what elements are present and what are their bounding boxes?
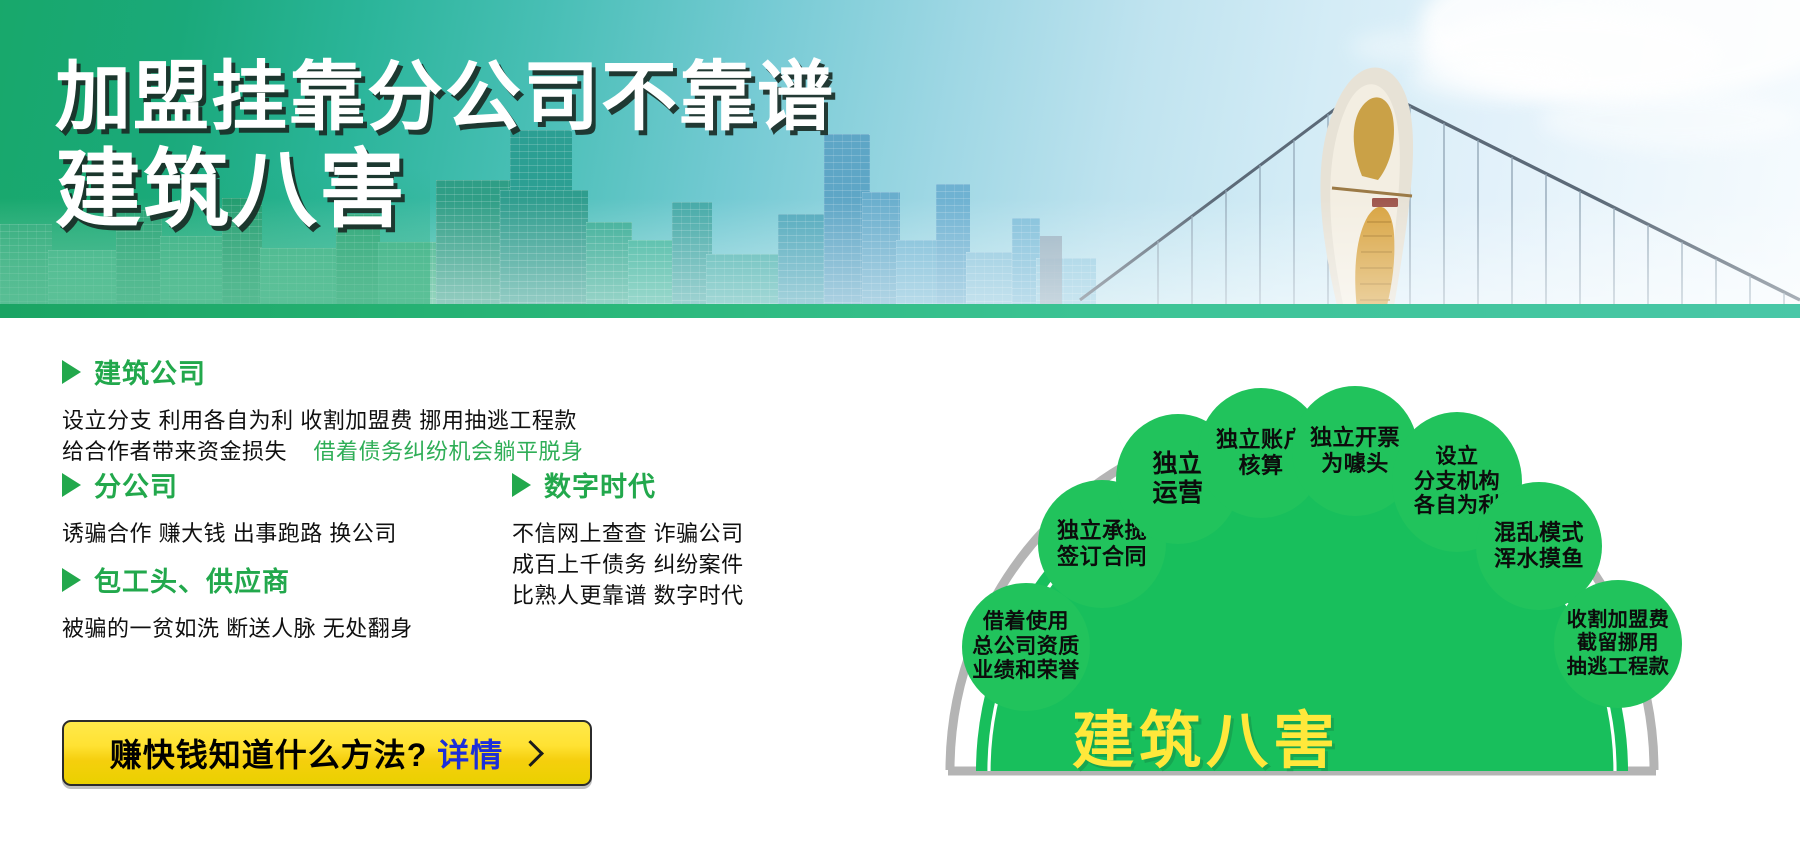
hero-title-group: 加盟挂靠分公司不靠谱 建筑八害: [55, 58, 835, 236]
cta-label: 赚快钱知道什么方法?: [110, 730, 428, 776]
section-title: 分公司: [94, 465, 178, 504]
triangle-bullet-icon: [62, 473, 81, 497]
section-title: 数字时代: [544, 465, 656, 504]
hero-bottom-bar: [0, 304, 1800, 318]
bubble-line: 收割加盟费: [1567, 609, 1670, 632]
body-line: 诱骗合作 赚大钱 出事跑路 换公司: [62, 518, 397, 549]
triangle-bullet-icon: [62, 360, 81, 384]
bubble-line: 抽逃工程款: [1567, 656, 1670, 679]
chevron-right-icon: [517, 740, 544, 767]
body-line-accent: 借着债务纠纷机会躺平脱身: [313, 439, 583, 464]
section-body: 诱骗合作 赚大钱 出事跑路 换公司: [62, 518, 397, 549]
section-title: 包工头、供应商: [94, 560, 290, 599]
section-body: 设立分支 利用各自为利 收割加盟费 挪用抽逃工程款 给合作者带来资金损失 借着债…: [62, 405, 583, 467]
bubble-line: 总公司资质: [972, 635, 1080, 659]
bubble-8[interactable]: 收割加盟费 截留挪用 抽逃工程款: [1554, 580, 1682, 708]
section-heading: 包工头、供应商: [62, 560, 413, 599]
section-branch-company: 分公司 诱骗合作 赚大钱 出事跑路 换公司: [62, 465, 397, 549]
dome-diagram: 借着使用 总公司资质 业绩和荣誉 独立承揽 签订合同 独立 运营 独立账户 核算…: [790, 330, 1800, 844]
section-contractor-supplier: 包工头、供应商 被骗的一贫如洗 断送人脉 无处翻身: [62, 560, 413, 644]
bubble-1[interactable]: 借着使用 总公司资质 业绩和荣誉: [962, 583, 1090, 711]
cta-detail-link[interactable]: 详情: [437, 730, 503, 776]
bubble-line: 为噱头: [1321, 451, 1389, 477]
triangle-bullet-icon: [512, 473, 531, 497]
section-body: 被骗的一贫如洗 断送人脉 无处翻身: [62, 613, 413, 644]
poster-root: 加盟挂靠分公司不靠谱 建筑八害 建筑公司 设立分支 利用各自为利 收割加盟费 挪…: [0, 0, 1800, 844]
bubble-line: 独立: [1152, 450, 1203, 479]
bubble-line: 分支机构: [1414, 470, 1500, 494]
section-body: 不信网上查查 诈骗公司 成百上千债务 纠纷案件 比熟人更靠谱 数字时代: [512, 518, 744, 612]
section-digital-era: 数字时代 不信网上查查 诈骗公司 成百上千债务 纠纷案件 比熟人更靠谱 数字时代: [512, 465, 744, 612]
section-title: 建筑公司: [94, 352, 206, 391]
bubble-line: 设立: [1436, 445, 1479, 469]
bubble-line: 签订合同: [1057, 544, 1147, 570]
body-line: 成百上千债务 纠纷案件: [512, 549, 744, 580]
bubble-line: 浑水摸鱼: [1494, 546, 1584, 572]
bubble-line: 截留挪用: [1577, 632, 1659, 655]
bubble-line: 运营: [1152, 479, 1203, 508]
bubble-line: 混乱模式: [1494, 520, 1584, 546]
body-line: 被骗的一贫如洗 断送人脉 无处翻身: [62, 613, 413, 644]
section-heading: 数字时代: [512, 465, 744, 504]
body-line: 不信网上查查 诈骗公司: [512, 518, 744, 549]
section-construction-company: 建筑公司 设立分支 利用各自为利 收割加盟费 挪用抽逃工程款 给合作者带来资金损…: [62, 352, 583, 467]
hero-title-line-1: 加盟挂靠分公司不靠谱: [55, 58, 835, 139]
section-heading: 分公司: [62, 465, 397, 504]
body-line: 设立分支 利用各自为利 收割加盟费 挪用抽逃工程款: [62, 405, 583, 436]
cta-button[interactable]: 赚快钱知道什么方法? 详情: [62, 720, 592, 786]
bubble-line: 独立开票: [1310, 425, 1400, 451]
dome-label: 建筑八害: [1072, 690, 1340, 780]
body-line: 给合作者带来资金损失 借着债务纠纷机会躺平脱身: [62, 436, 583, 467]
triangle-bullet-icon: [62, 568, 81, 592]
bubble-line: 核算: [1238, 453, 1283, 479]
section-heading: 建筑公司: [62, 352, 583, 391]
hero-banner: 加盟挂靠分公司不靠谱 建筑八害: [0, 0, 1800, 318]
left-content-column: 建筑公司 设立分支 利用各自为利 收割加盟费 挪用抽逃工程款 给合作者带来资金损…: [0, 330, 790, 844]
bubble-line: 业绩和荣誉: [972, 659, 1080, 683]
hero-title-line-2: 建筑八害: [55, 145, 835, 236]
bubble-line: 借着使用: [983, 610, 1069, 634]
body-line-text: 给合作者带来资金损失: [62, 439, 287, 464]
body-line: 比熟人更靠谱 数字时代: [512, 580, 744, 611]
